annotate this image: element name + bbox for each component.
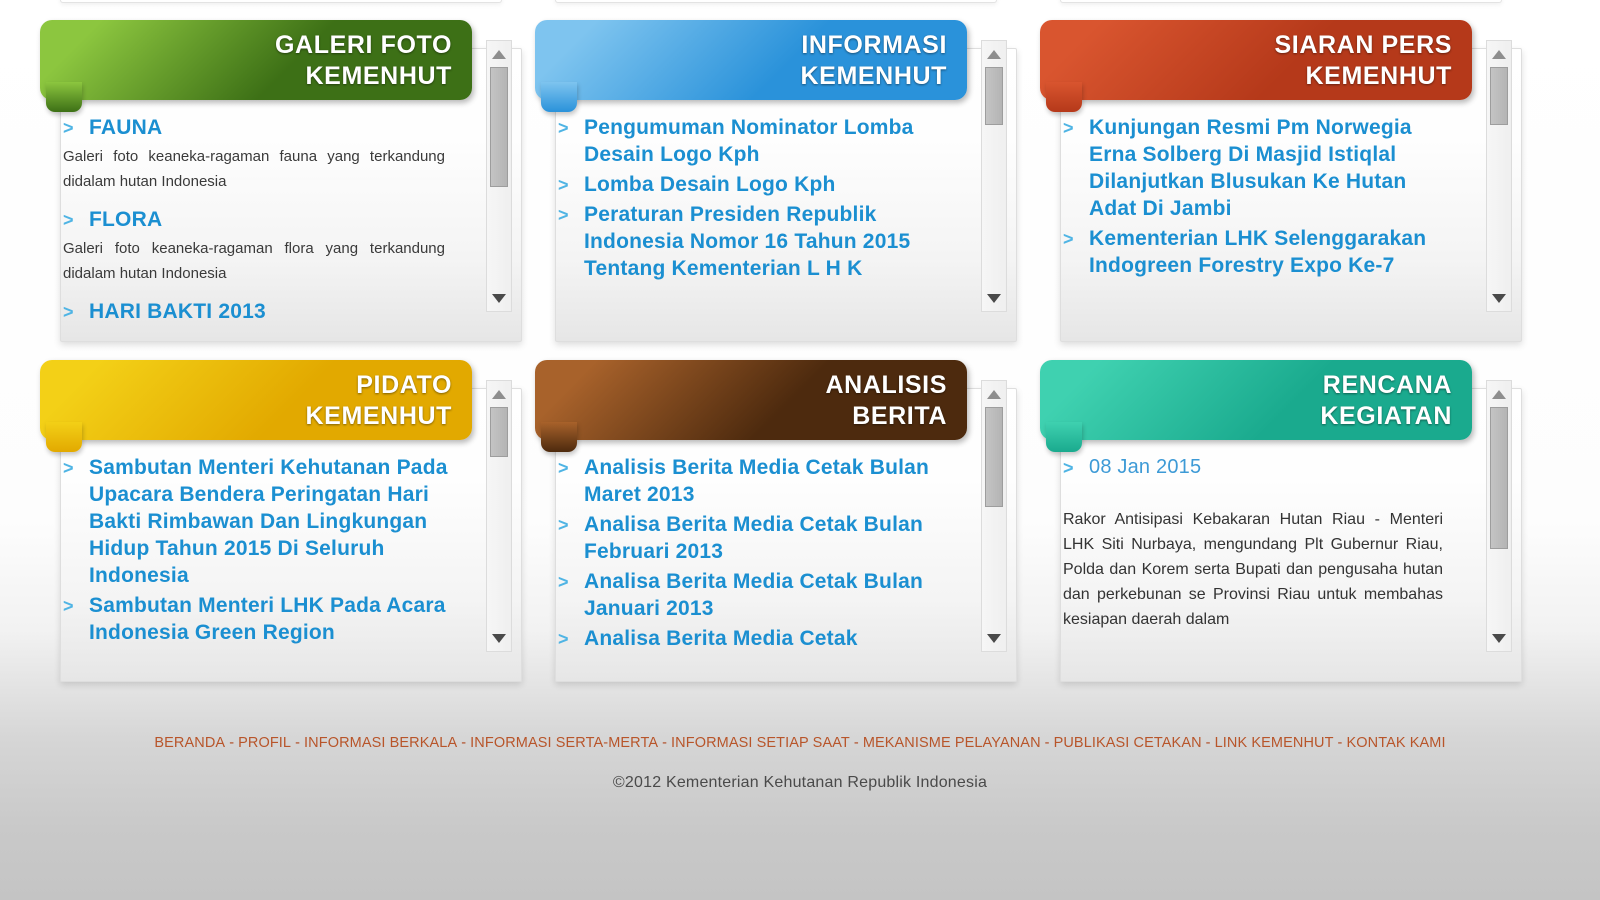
entry-link[interactable]: Lomba Desain Logo Kph	[584, 171, 946, 198]
entry-link[interactable]: Sambutan Menteri LHK Pada Acara Indonesi…	[89, 592, 451, 646]
panel-pidato-kemenhut: PIDATO KEMENHUT>Sambutan Menteri Kehutan…	[40, 360, 520, 680]
panel-grid: GALERI FOTO KEMENHUT>FAUNAGaleri foto ke…	[0, 0, 1600, 720]
panel-body-pidato-kemenhut: >Sambutan Menteri Kehutanan Pada Upacara…	[41, 442, 465, 680]
footer-link-informasi-serta-merta[interactable]: INFORMASI SERTA-MERTA	[470, 735, 658, 751]
scrollbar-galeri-foto[interactable]	[486, 40, 512, 312]
list-item: >Analisa Berita Media Cetak Bulan Januar…	[558, 568, 946, 622]
list-item: >Analisis Berita Media Cetak Bulan Maret…	[558, 454, 946, 508]
chevron-right-icon: >	[1063, 115, 1074, 141]
chevron-right-icon: >	[63, 299, 74, 325]
entry-link[interactable]: Analisa Berita Media Cetak	[584, 625, 946, 652]
footer-copyright: ©2012 Kementerian Kehutanan Republik Ind…	[0, 774, 1600, 792]
triangle-up-icon[interactable]	[982, 383, 1006, 405]
panel-title-rencana-kegiatan: RENCANA KEGIATAN	[1040, 370, 1452, 432]
triangle-down-icon[interactable]	[982, 287, 1006, 309]
chevron-right-icon: >	[63, 593, 74, 619]
triangle-up-icon[interactable]	[487, 43, 511, 65]
entry-link[interactable]: Sambutan Menteri Kehutanan Pada Upacara …	[89, 454, 451, 589]
footer-link-beranda[interactable]: BERANDA	[154, 735, 225, 751]
panel-body-analisis-berita: >Analisis Berita Media Cetak Bulan Maret…	[536, 442, 960, 680]
list-item: >Pengumuman Nominator Lomba Desain Logo …	[558, 114, 946, 168]
panel-siaran-pers: SIARAN PERS KEMENHUT>Kunjungan Resmi Pm …	[1040, 20, 1520, 340]
footer: BERANDA-PROFIL-INFORMASI BERKALA-INFORMA…	[0, 735, 1600, 792]
scrollbar-thumb[interactable]	[490, 407, 508, 457]
list-item: >FLORA	[63, 206, 451, 233]
panel-galeri-foto: GALERI FOTO KEMENHUT>FAUNAGaleri foto ke…	[40, 20, 520, 340]
scrollbar-analisis-berita[interactable]	[981, 380, 1007, 652]
entry-link[interactable]: FLORA	[89, 206, 451, 233]
triangle-down-icon[interactable]	[487, 627, 511, 649]
footer-separator: -	[1045, 735, 1050, 751]
triangle-up-icon[interactable]	[982, 43, 1006, 65]
panel-header-galeri-foto: GALERI FOTO KEMENHUT	[40, 20, 472, 100]
footer-link-informasi-setiap-saat[interactable]: INFORMASI SETIAP SAAT	[671, 735, 850, 751]
list-item: >Analisa Berita Media Cetak Bulan Februa…	[558, 511, 946, 565]
triangle-up-icon[interactable]	[1487, 43, 1511, 65]
chevron-right-icon: >	[558, 455, 569, 481]
panel-header-rencana-kegiatan: RENCANA KEGIATAN	[1040, 360, 1472, 440]
entry-link[interactable]: Peraturan Presiden Republik Indonesia No…	[584, 201, 946, 282]
chevron-right-icon: >	[63, 115, 74, 141]
footer-link-profil[interactable]: PROFIL	[238, 735, 291, 751]
scrollbar-informasi-kemenhut[interactable]	[981, 40, 1007, 312]
footer-separator: -	[461, 735, 466, 751]
entry-link[interactable]: Kunjungan Resmi Pm Norwegia Erna Solberg…	[1089, 114, 1451, 222]
panel-body-siaran-pers: >Kunjungan Resmi Pm Norwegia Erna Solber…	[1041, 102, 1465, 340]
chevron-right-icon: >	[558, 569, 569, 595]
chevron-right-icon: >	[558, 512, 569, 538]
panel-title-informasi-kemenhut: INFORMASI KEMENHUT	[535, 30, 947, 92]
scrollbar-rencana-kegiatan[interactable]	[1486, 380, 1512, 652]
triangle-down-icon[interactable]	[1487, 287, 1511, 309]
footer-separator: -	[1206, 735, 1211, 751]
chevron-right-icon: >	[1063, 226, 1074, 252]
panel-analisis-berita: ANALISIS BERITA>Analisis Berita Media Ce…	[535, 360, 1015, 680]
list-item: >Analisa Berita Media Cetak	[558, 625, 946, 652]
footer-separator: -	[229, 735, 234, 751]
triangle-up-icon[interactable]	[1487, 383, 1511, 405]
panel-informasi-kemenhut: INFORMASI KEMENHUT>Pengumuman Nominator …	[535, 20, 1015, 340]
entry-link[interactable]: Kementerian LHK Selenggarakan Indogreen …	[1089, 225, 1451, 279]
entry-link[interactable]: 08 Jan 2015	[1089, 454, 1451, 481]
scrollbar-thumb[interactable]	[1490, 407, 1508, 549]
scrollbar-siaran-pers[interactable]	[1486, 40, 1512, 312]
chevron-right-icon: >	[558, 115, 569, 141]
chevron-right-icon: >	[63, 455, 74, 481]
footer-link-link-kemenhut[interactable]: LINK KEMENHUT	[1215, 735, 1334, 751]
scrollbar-thumb[interactable]	[1490, 67, 1508, 125]
panel-title-siaran-pers: SIARAN PERS KEMENHUT	[1040, 30, 1452, 92]
scrollbar-thumb[interactable]	[985, 407, 1003, 507]
panel-header-pidato-kemenhut: PIDATO KEMENHUT	[40, 360, 472, 440]
footer-link-publikasi-cetakan[interactable]: PUBLIKASI CETAKAN	[1054, 735, 1202, 751]
footer-link-kontak-kami[interactable]: KONTAK KAMI	[1346, 735, 1445, 751]
footer-link-informasi-berkala[interactable]: INFORMASI BERKALA	[304, 735, 457, 751]
panel-rencana-kegiatan: RENCANA KEGIATAN>08 Jan 2015Rakor Antisi…	[1040, 360, 1520, 680]
scrollbar-thumb[interactable]	[490, 67, 508, 187]
panel-header-analisis-berita: ANALISIS BERITA	[535, 360, 967, 440]
triangle-down-icon[interactable]	[1487, 627, 1511, 649]
entry-link[interactable]: Analisis Berita Media Cetak Bulan Maret …	[584, 454, 946, 508]
list-item: >FAUNA	[63, 114, 451, 141]
panel-header-informasi-kemenhut: INFORMASI KEMENHUT	[535, 20, 967, 100]
entry-link[interactable]: FAUNA	[89, 114, 451, 141]
chevron-right-icon: >	[558, 202, 569, 228]
entry-description: Galeri foto keaneka-ragaman flora yang t…	[63, 236, 445, 286]
list-item: >HARI BAKTI 2013	[63, 298, 451, 325]
scrollbar-pidato-kemenhut[interactable]	[486, 380, 512, 652]
list-item: >Peraturan Presiden Republik Indonesia N…	[558, 201, 946, 282]
scrollbar-thumb[interactable]	[985, 67, 1003, 125]
panel-title-pidato-kemenhut: PIDATO KEMENHUT	[40, 370, 452, 432]
chevron-right-icon: >	[63, 207, 74, 233]
footer-nav: BERANDA-PROFIL-INFORMASI BERKALA-INFORMA…	[0, 735, 1600, 751]
entry-body-text: Rakor Antisipasi Kebakaran Hutan Riau - …	[1063, 507, 1443, 632]
panel-body-informasi-kemenhut: >Pengumuman Nominator Lomba Desain Logo …	[536, 102, 960, 340]
entry-link[interactable]: HARI BAKTI 2013	[89, 298, 451, 325]
chevron-right-icon: >	[1063, 455, 1074, 481]
triangle-up-icon[interactable]	[487, 383, 511, 405]
triangle-down-icon[interactable]	[487, 287, 511, 309]
panel-body-rencana-kegiatan: >08 Jan 2015Rakor Antisipasi Kebakaran H…	[1041, 442, 1465, 680]
list-item: >Kunjungan Resmi Pm Norwegia Erna Solber…	[1063, 114, 1451, 222]
entry-link[interactable]: Analisa Berita Media Cetak Bulan Februar…	[584, 511, 946, 565]
footer-link-mekanisme-pelayanan[interactable]: MEKANISME PELAYANAN	[863, 735, 1041, 751]
list-item: >Lomba Desain Logo Kph	[558, 171, 946, 198]
list-item: >Kementerian LHK Selenggarakan Indogreen…	[1063, 225, 1451, 279]
footer-separator: -	[1338, 735, 1343, 751]
chevron-right-icon: >	[558, 172, 569, 198]
triangle-down-icon[interactable]	[982, 627, 1006, 649]
footer-separator: -	[295, 735, 300, 751]
list-item: >Sambutan Menteri Kehutanan Pada Upacara…	[63, 454, 451, 589]
panel-title-analisis-berita: ANALISIS BERITA	[535, 370, 947, 432]
panel-header-siaran-pers: SIARAN PERS KEMENHUT	[1040, 20, 1472, 100]
chevron-right-icon: >	[558, 626, 569, 652]
entry-link[interactable]: Analisa Berita Media Cetak Bulan Januari…	[584, 568, 946, 622]
entry-description: Galeri foto keaneka-ragaman fauna yang t…	[63, 144, 445, 194]
list-item: >Sambutan Menteri LHK Pada Acara Indones…	[63, 592, 451, 646]
footer-separator: -	[662, 735, 667, 751]
panel-body-galeri-foto: >FAUNAGaleri foto keaneka-ragaman fauna …	[41, 102, 465, 340]
panel-title-galeri-foto: GALERI FOTO KEMENHUT	[40, 30, 452, 92]
list-item: >08 Jan 2015	[1063, 454, 1451, 481]
footer-separator: -	[854, 735, 859, 751]
entry-link[interactable]: Pengumuman Nominator Lomba Desain Logo K…	[584, 114, 946, 168]
